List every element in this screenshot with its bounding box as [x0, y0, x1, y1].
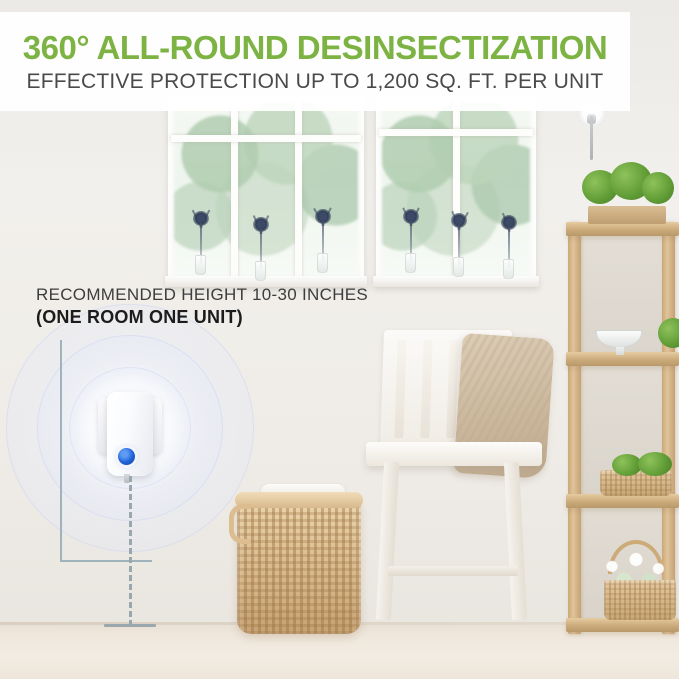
- mullion-vertical: [295, 99, 302, 278]
- chair-leg: [376, 462, 399, 621]
- basket-handle: [229, 504, 251, 544]
- planter-box: [588, 206, 666, 224]
- window-left-glass: [174, 102, 358, 275]
- mullion-horizontal: [171, 135, 361, 142]
- callout-line-1: RECOMMENDED HEIGHT 10-30 INCHES: [36, 285, 368, 305]
- shelf-board: [566, 618, 679, 632]
- height-base-marker: [104, 624, 156, 627]
- window-left: [168, 96, 364, 281]
- rattan-laundry-basket: [231, 482, 367, 634]
- height-callout: RECOMMENDED HEIGHT 10-30 INCHES (ONE ROO…: [36, 285, 368, 328]
- white-wooden-chair: [366, 330, 542, 630]
- shelf-board: [566, 222, 679, 236]
- window-group: [168, 96, 536, 281]
- subline-text: EFFECTIVE PROTECTION UP TO 1,200 SQ. FT.…: [27, 70, 604, 94]
- window-right: [376, 96, 536, 281]
- chair-leg: [504, 462, 527, 621]
- basket-rim: [235, 492, 363, 508]
- chair-rung: [388, 566, 518, 576]
- potted-herb-plant: [642, 172, 674, 204]
- headline-text: 360° ALL-ROUND DESINSECTIZATION: [23, 29, 607, 67]
- mullion-horizontal: [379, 129, 533, 136]
- basket-greens: [638, 452, 672, 476]
- product-scene: RECOMMENDED HEIGHT 10-30 INCHES (ONE ROO…: [0, 0, 679, 679]
- window-sill: [373, 276, 539, 287]
- wooden-shelf-unit: [566, 222, 679, 634]
- header-banner: 360° ALL-ROUND DESINSECTIZATION EFFECTIV…: [0, 12, 630, 111]
- mullion-vertical: [231, 99, 238, 278]
- height-bracket: [60, 340, 152, 562]
- callout-line-2: (ONE ROOM ONE UNIT): [36, 307, 368, 328]
- shelf-post-left: [568, 222, 581, 634]
- basket-body: [237, 496, 361, 634]
- wicker-basket-flowers: [604, 580, 676, 620]
- height-dashed-line: [129, 476, 132, 626]
- shelf-board: [566, 494, 679, 508]
